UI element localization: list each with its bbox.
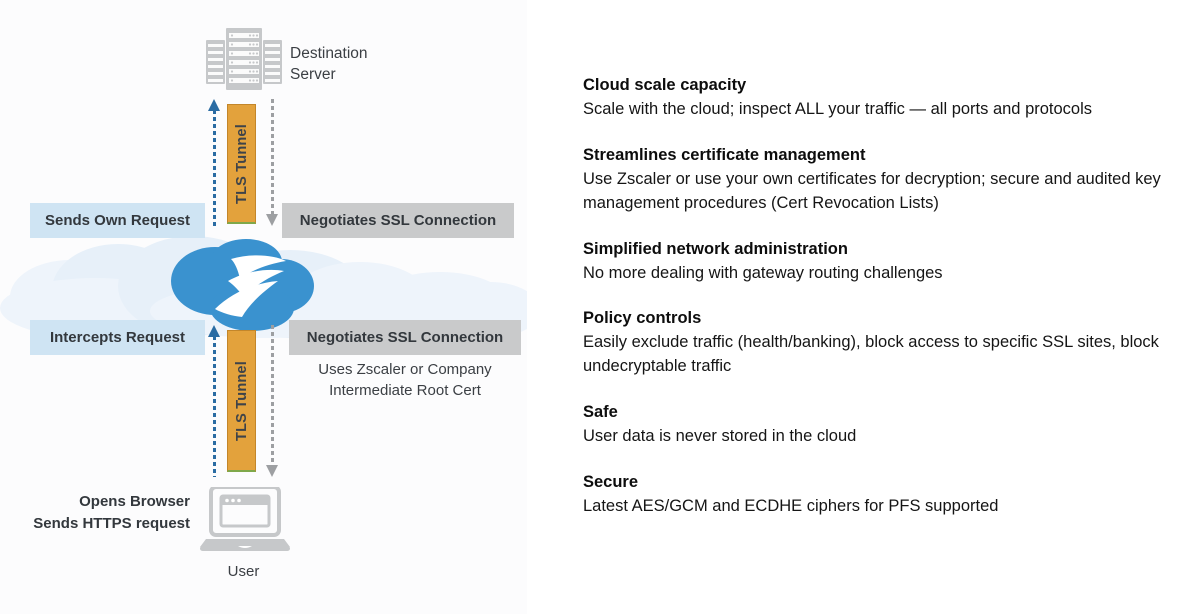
feature-title: Simplified network administration [583, 238, 1183, 262]
tls-tunnel-upper-label: TLS Tunnel [234, 124, 250, 204]
banner-negotiates-ssl-lower-label: Negotiates SSL Connection [307, 329, 503, 346]
feature-item: Streamlines certificate management Use Z… [583, 144, 1183, 216]
feature-list: Cloud scale capacity Scale with the clou… [583, 74, 1183, 541]
destination-server-label-line2: Server [290, 65, 368, 86]
user-label: User [0, 562, 487, 582]
tls-tunnel-lower-label: TLS Tunnel [234, 361, 250, 441]
tls-tunnel-lower: TLS Tunnel [227, 330, 256, 472]
feature-title: Cloud scale capacity [583, 74, 1183, 98]
downstream-arrow-lower-icon [266, 325, 279, 477]
feature-title: Secure [583, 471, 1183, 495]
slide-root: Destination Server TLS Tunnel Sends Own … [0, 0, 1200, 614]
upstream-arrow-lower-icon [208, 325, 221, 477]
user-label-text: User [228, 563, 260, 580]
tls-tunnel-upper: TLS Tunnel [227, 104, 256, 224]
feature-item: Cloud scale capacity Scale with the clou… [583, 74, 1183, 122]
server-rack-icon [206, 28, 282, 90]
feature-title: Policy controls [583, 307, 1183, 331]
feature-title: Streamlines certificate management [583, 144, 1183, 168]
feature-description: User data is never stored in the cloud [583, 425, 1183, 449]
feature-item: Policy controls Easily exclude traffic (… [583, 307, 1183, 379]
cert-note-line1: Uses Zscaler or Company [289, 359, 521, 380]
intermediate-root-cert-note: Uses Zscaler or Company Intermediate Roo… [289, 359, 521, 402]
banner-negotiates-ssl-upper-label: Negotiates SSL Connection [300, 212, 496, 229]
destination-server-label-line1: Destination [290, 44, 368, 65]
banner-negotiates-ssl-upper: Negotiates SSL Connection [282, 203, 514, 238]
feature-description: No more dealing with gateway routing cha… [583, 262, 1183, 286]
banner-intercepts-request: Intercepts Request [30, 320, 205, 355]
banner-negotiates-ssl-lower: Negotiates SSL Connection [289, 320, 521, 355]
feature-item: Safe User data is never stored in the cl… [583, 401, 1183, 449]
feature-item: Simplified network administration No mor… [583, 238, 1183, 286]
downstream-arrow-upper-icon [266, 99, 279, 226]
zscaler-cloud-logo [168, 237, 320, 333]
feature-description: Latest AES/GCM and ECDHE ciphers for PFS… [583, 495, 1183, 519]
laptop-icon [200, 487, 290, 551]
user-action-line2: Sends HTTPS request [0, 513, 190, 535]
cert-note-line2: Intermediate Root Cert [289, 380, 521, 401]
banner-sends-own-request: Sends Own Request [30, 203, 205, 238]
feature-description: Scale with the cloud; inspect ALL your t… [583, 98, 1183, 122]
feature-item: Secure Latest AES/GCM and ECDHE ciphers … [583, 471, 1183, 519]
feature-title: Safe [583, 401, 1183, 425]
feature-description: Easily exclude traffic (health/banking),… [583, 331, 1183, 379]
feature-description: Use Zscaler or use your own certificates… [583, 168, 1183, 216]
user-action-line1: Opens Browser [0, 491, 190, 513]
banner-intercepts-request-label: Intercepts Request [50, 329, 185, 346]
ssl-inspection-diagram: Destination Server TLS Tunnel Sends Own … [0, 0, 527, 614]
user-action-label: Opens Browser Sends HTTPS request [0, 491, 190, 535]
upstream-arrow-upper-icon [208, 99, 221, 226]
destination-server-label: Destination Server [290, 44, 368, 86]
banner-sends-own-request-label: Sends Own Request [45, 212, 190, 229]
